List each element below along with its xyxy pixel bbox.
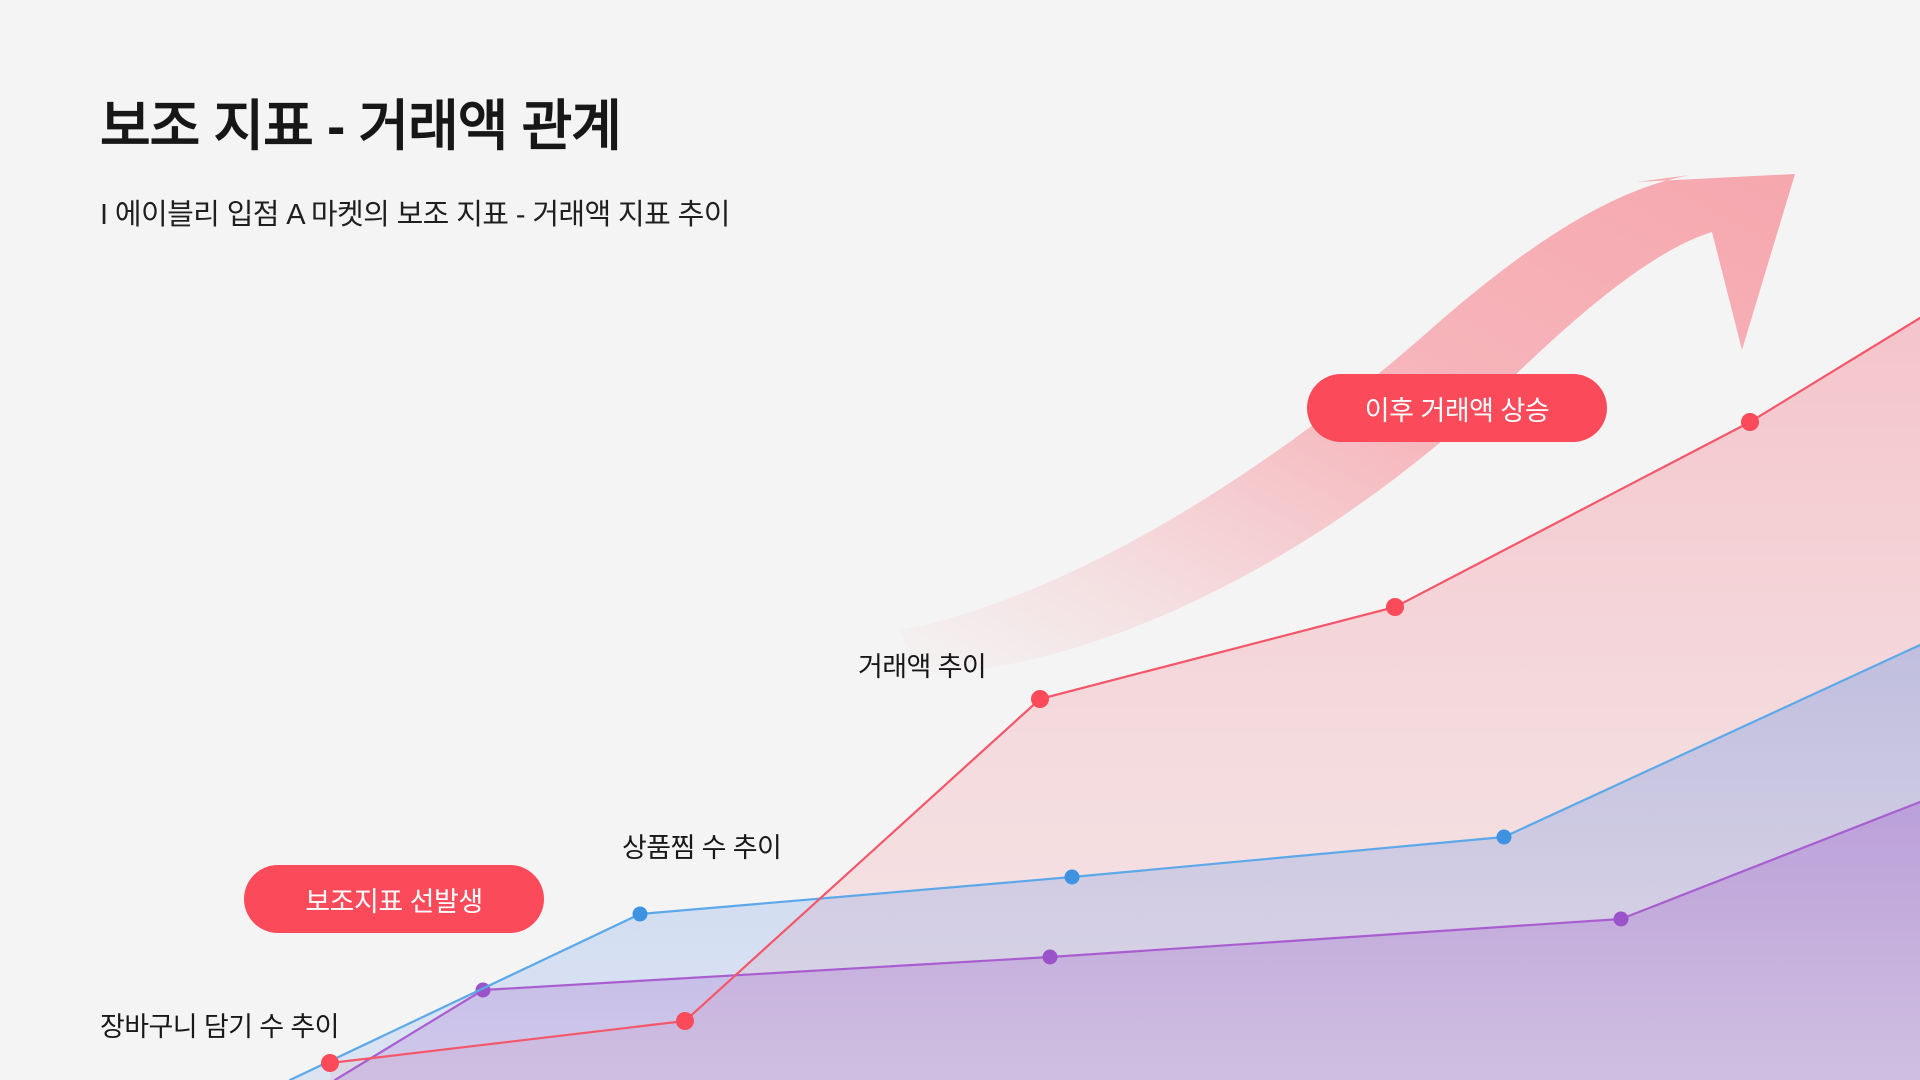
- badge-after-transaction-rise: 이후 거래액 상승: [1307, 374, 1607, 442]
- slide-canvas: 보조 지표 - 거래액 관계 I 에이블리 입점 A 마켓의 보조 지표 - 거…: [0, 0, 1920, 1080]
- header-block: 보조 지표 - 거래액 관계 I 에이블리 입점 A 마켓의 보조 지표 - 거…: [100, 96, 730, 233]
- data-point-wishlist: [1497, 830, 1512, 845]
- badge-leading-indicator: 보조지표 선발생: [244, 865, 544, 933]
- data-point-transaction: [1031, 690, 1049, 708]
- series-label-transaction: 거래액 추이: [858, 645, 986, 684]
- data-point-wishlist: [1065, 870, 1080, 885]
- data-point-cart: [1614, 912, 1629, 927]
- data-point-wishlist: [633, 907, 648, 922]
- series-label-wishlist: 상품찜 수 추이: [622, 826, 781, 865]
- data-point-transaction: [321, 1054, 339, 1072]
- page-subtitle: I 에이블리 입점 A 마켓의 보조 지표 - 거래액 지표 추이: [100, 191, 730, 233]
- data-point-transaction: [676, 1012, 694, 1030]
- data-point-transaction: [1386, 598, 1404, 616]
- data-point-cart: [1043, 950, 1058, 965]
- data-point-transaction: [1741, 413, 1759, 431]
- series-label-cart: 장바구니 담기 수 추이: [100, 1005, 339, 1044]
- page-title: 보조 지표 - 거래액 관계: [100, 96, 730, 157]
